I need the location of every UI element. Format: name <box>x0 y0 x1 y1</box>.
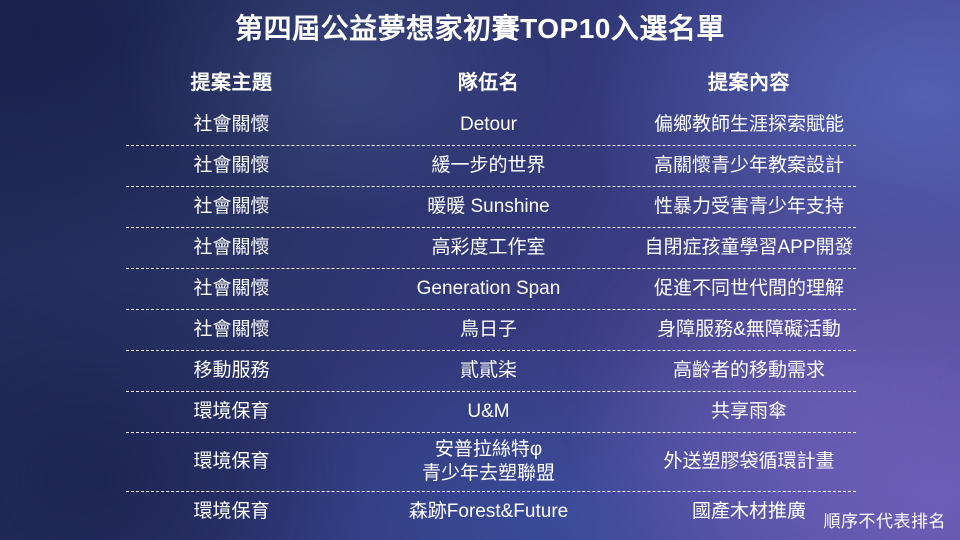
table-row: 社會關懷 Detour 偏鄉教師生涯探索賦能 <box>104 105 880 145</box>
ranking-table: 提案主題 隊伍名 提案內容 社會關懷 Detour 偏鄉教師生涯探索賦能 社會關… <box>104 62 880 532</box>
cell-topic: 環境保育 <box>104 400 359 424</box>
table-row: 社會關懷 Generation Span 促進不同世代間的理解 <box>104 269 880 309</box>
footnote-order-disclaimer: 順序不代表排名 <box>824 507 947 532</box>
cell-content: 促進不同世代間的理解 <box>618 277 880 301</box>
slide-canvas: 第四屆公益夢想家初賽TOP10入選名單 提案主題 隊伍名 提案內容 社會關懷 D… <box>0 0 960 540</box>
cell-team: 緩一步的世界 <box>359 154 618 178</box>
table-row: 社會關懷 暖暖 Sunshine 性暴力受害青少年支持 <box>104 187 880 227</box>
cell-team: Detour <box>359 113 618 137</box>
cell-team: 暖暖 Sunshine <box>359 195 618 219</box>
cell-topic: 環境保育 <box>104 500 359 524</box>
table-row: 社會關懷 緩一步的世界 高關懷青少年教案設計 <box>104 146 880 186</box>
cell-topic: 社會關懷 <box>104 113 359 137</box>
cell-topic: 社會關懷 <box>104 236 359 260</box>
cell-team: 鳥日子 <box>359 318 618 342</box>
cell-topic: 移動服務 <box>104 359 359 383</box>
cell-content: 性暴力受害青少年支持 <box>618 195 880 219</box>
table-row: 移動服務 貳貳柒 高齡者的移動需求 <box>104 351 880 391</box>
table-row: 環境保育 森跡Forest&Future 國產木材推廣 <box>104 492 880 532</box>
cell-topic: 社會關懷 <box>104 318 359 342</box>
cell-topic: 社會關懷 <box>104 195 359 219</box>
cell-team: Generation Span <box>359 277 618 301</box>
cell-topic: 社會關懷 <box>104 277 359 301</box>
cell-content: 身障服務&無障礙活動 <box>618 318 880 342</box>
cell-team: 高彩度工作室 <box>359 236 618 260</box>
table-row: 環境保育 U&M 共享雨傘 <box>104 392 880 432</box>
column-header-topic: 提案主題 <box>104 71 359 97</box>
table-row: 社會關懷 高彩度工作室 自閉症孩童學習APP開發 <box>104 228 880 268</box>
cell-content: 偏鄉教師生涯探索賦能 <box>618 113 880 137</box>
cell-topic: 社會關懷 <box>104 154 359 178</box>
column-header-team: 隊伍名 <box>359 71 618 97</box>
page-title: 第四屆公益夢想家初賽TOP10入選名單 <box>0 11 960 46</box>
table-header-row: 提案主題 隊伍名 提案內容 <box>104 62 880 105</box>
table-row: 社會關懷 鳥日子 身障服務&無障礙活動 <box>104 310 880 350</box>
cell-team: 森跡Forest&Future <box>359 500 618 524</box>
cell-team: 安普拉絲特φ 青少年去塑聯盟 <box>359 438 618 487</box>
cell-content: 高齡者的移動需求 <box>618 359 880 383</box>
cell-team: U&M <box>359 400 618 424</box>
cell-topic: 環境保育 <box>104 450 359 474</box>
column-header-content: 提案內容 <box>618 71 880 97</box>
cell-content: 外送塑膠袋循環計畫 <box>618 450 880 474</box>
cell-team: 貳貳柒 <box>359 359 618 383</box>
cell-content: 高關懷青少年教案設計 <box>618 154 880 178</box>
table-row: 環境保育 安普拉絲特φ 青少年去塑聯盟 外送塑膠袋循環計畫 <box>104 433 880 491</box>
cell-content: 自閉症孩童學習APP開發 <box>618 236 880 260</box>
cell-content: 共享雨傘 <box>618 400 880 424</box>
